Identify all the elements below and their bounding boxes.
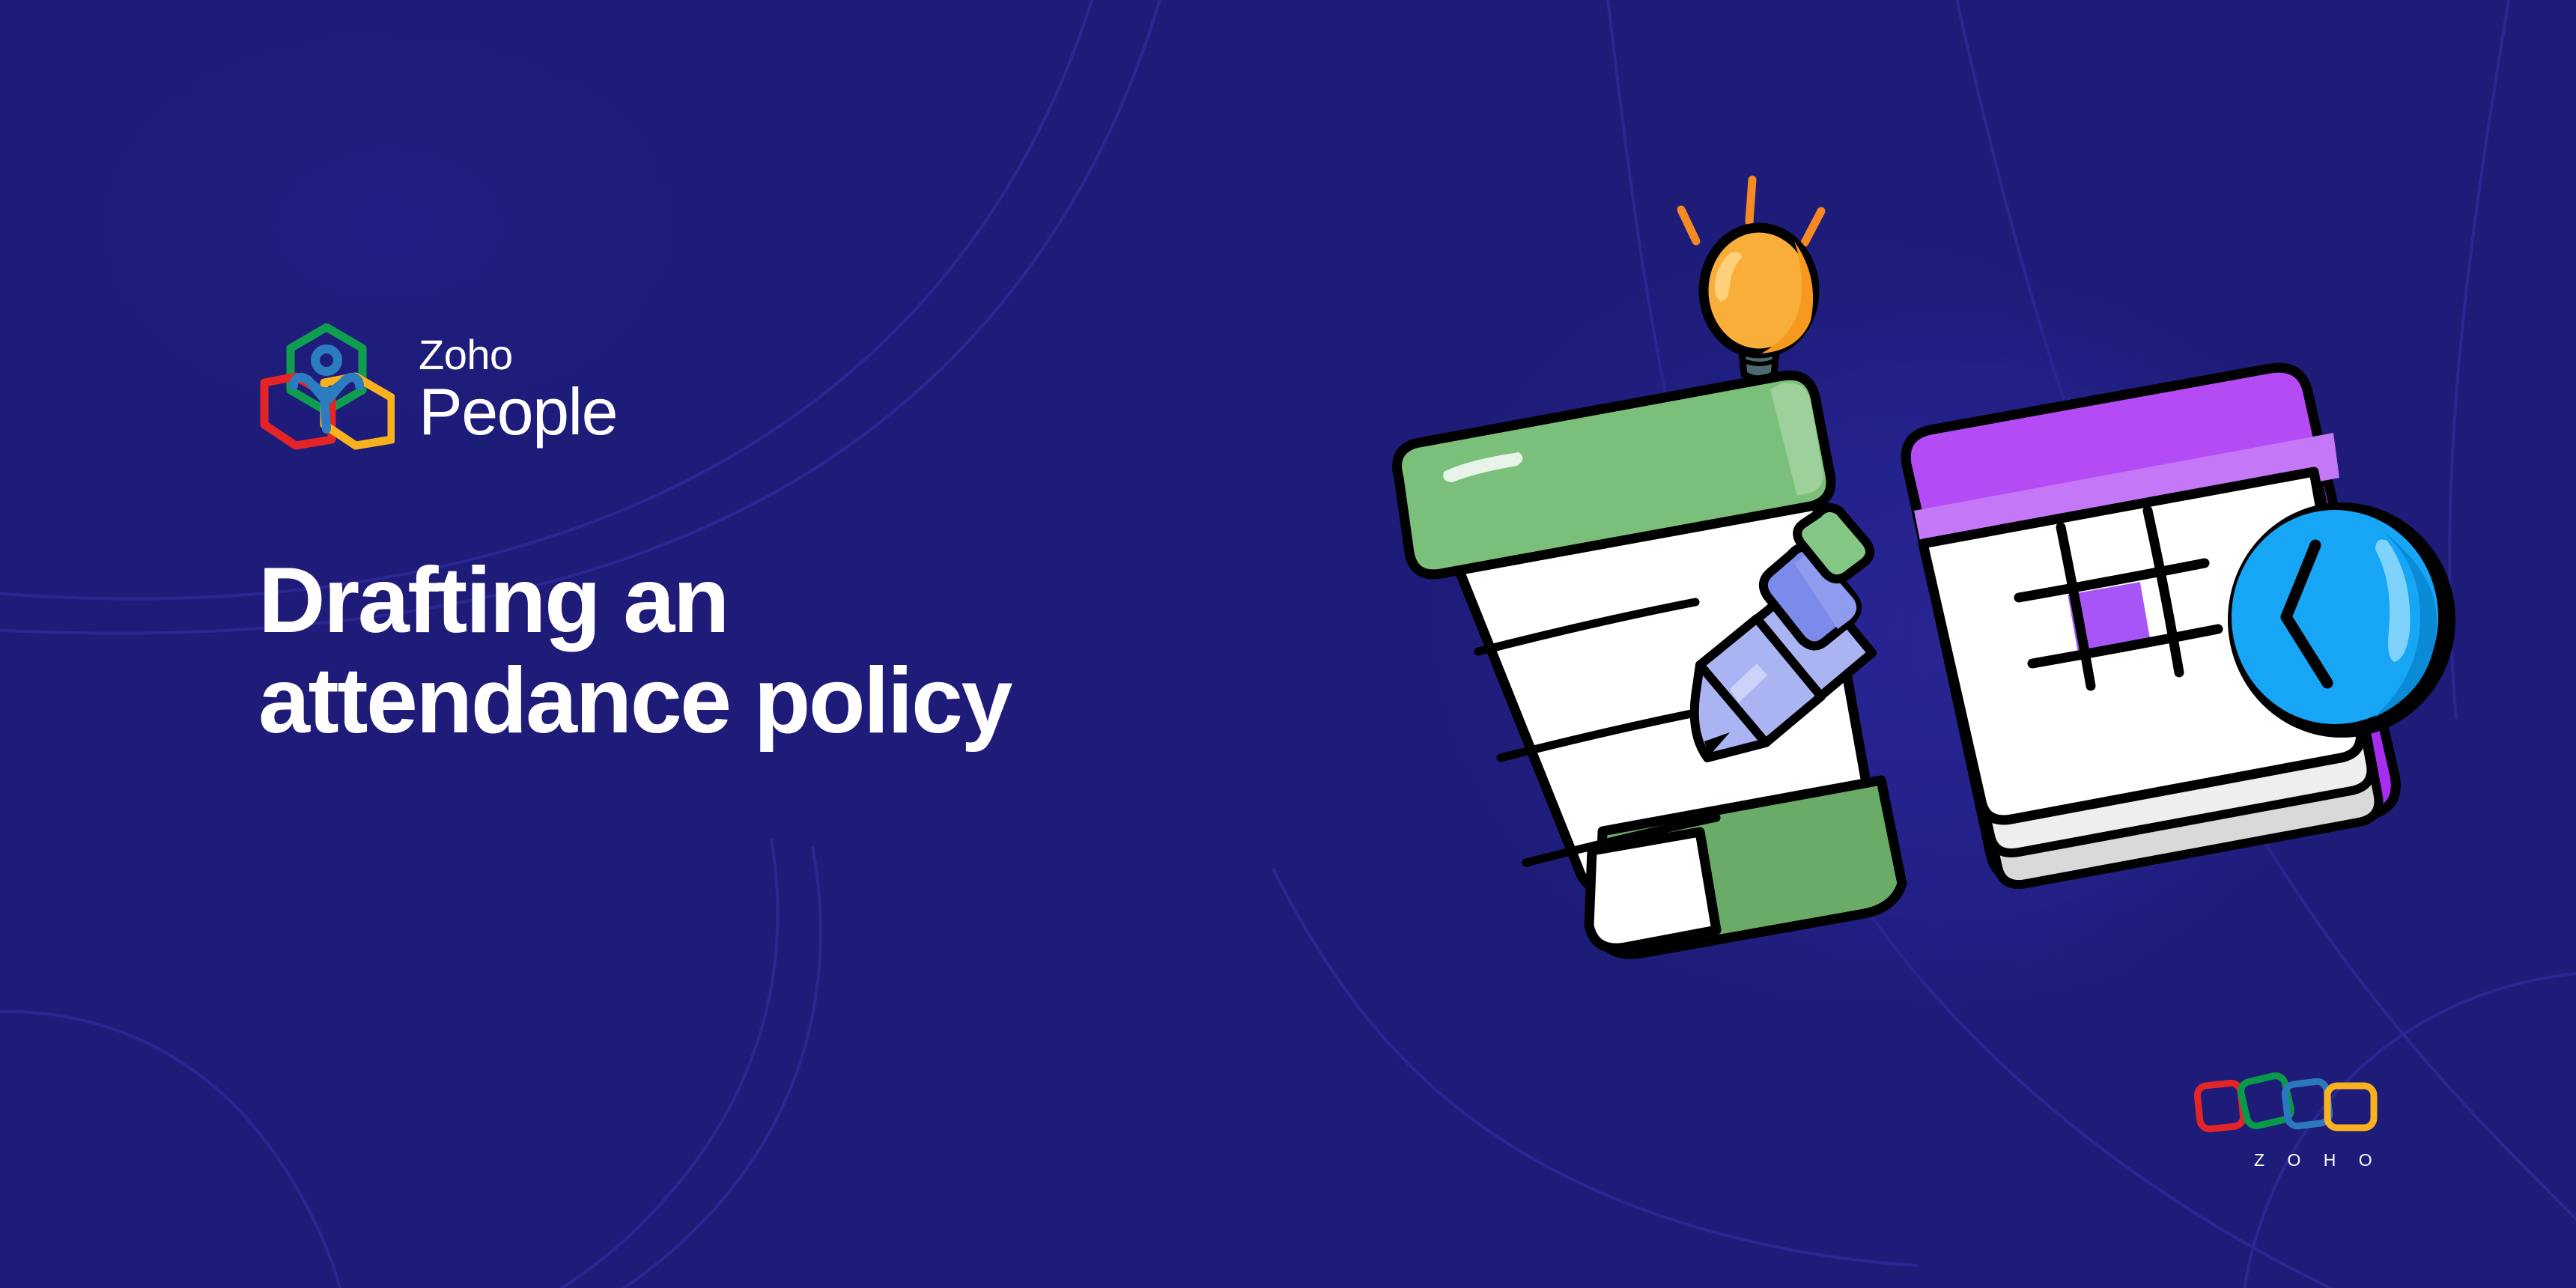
banner-canvas: Zoho People Drafting an attendance polic… (0, 0, 2576, 1288)
square-yellow (2327, 1086, 2374, 1128)
zoho-people-wordmark: Zoho People (419, 330, 617, 446)
zoho-people-product-lockup: Zoho People (258, 313, 1382, 463)
zoho-logo-wordmark: Z O H O (2254, 1152, 2440, 1169)
clock-icon (2228, 502, 2455, 738)
product-word-zoho: Zoho (419, 333, 617, 377)
zoho-logo-squares (2193, 1069, 2380, 1141)
hero-content-column: Zoho People Drafting an attendance polic… (258, 313, 1382, 814)
zoho-people-hexagon-person-icon (258, 320, 395, 456)
page-title: Drafting an attendance policy (258, 551, 1247, 752)
notepad-calendar-clock-lightbulb-illustration (1378, 172, 2501, 1056)
zoho-corporate-logo[interactable]: Z O H O (2193, 1069, 2440, 1200)
product-word-people: People (419, 378, 617, 446)
square-red (2196, 1082, 2244, 1130)
